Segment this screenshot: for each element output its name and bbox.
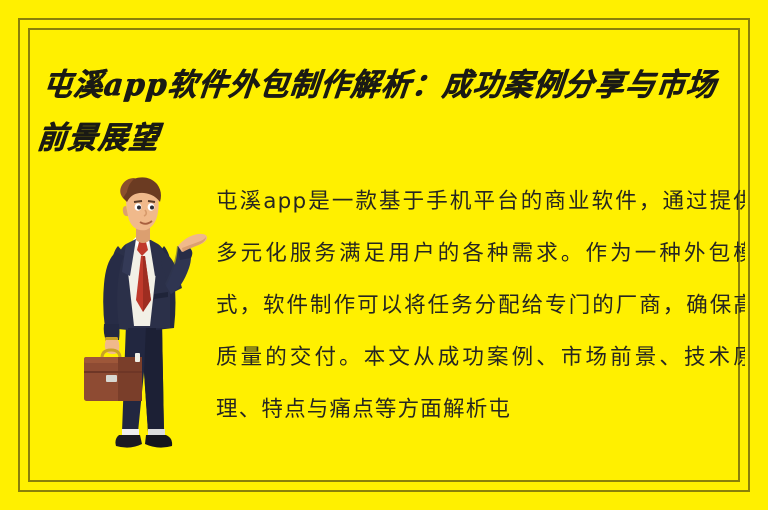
pupil-right [150,206,154,210]
shoe-left [115,435,142,448]
eyebrow-left [134,201,142,202]
pupil-left [137,206,141,210]
briefcase-handle [102,350,120,358]
article-card: 屯溪app软件外包制作解析：成功案例分享与市场前景展望 屯溪app是一款基于手机… [0,0,768,510]
briefcase-shadow [118,357,142,401]
trousers-shadow [144,324,164,432]
article-body-text: 屯溪app是一款基于手机平台的商业软件，通过提供多元化服务满足用户的各种需求。作… [216,176,745,436]
article-body-container: 屯溪app是一款基于手机平台的商业软件，通过提供多元化服务满足用户的各种需求。作… [216,176,745,476]
sock-right [148,429,165,435]
shoe-right [145,435,172,448]
briefcase-paper [135,353,140,362]
businessman-illustration [78,176,208,476]
briefcase-latch [106,375,117,382]
eyebrow-right [148,201,155,202]
sock-left [122,429,139,435]
briefcase-seam [84,371,142,373]
article-headline: 屯溪app软件外包制作解析：成功案例分享与市场前景展望 [35,58,746,164]
